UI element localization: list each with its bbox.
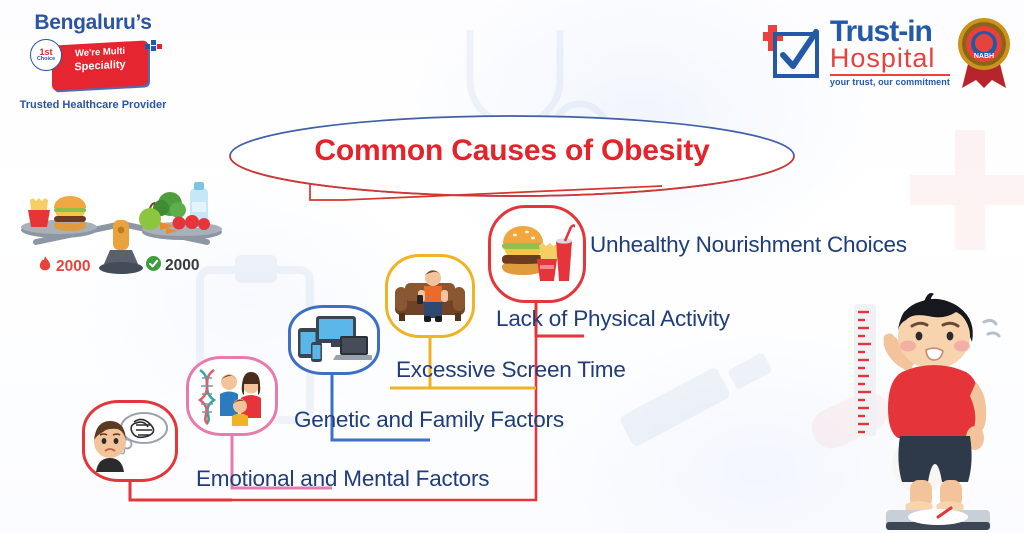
cause-node-unhealthy-nourishment[interactable] xyxy=(488,205,586,303)
overweight-boy-on-weighing-scale xyxy=(838,286,1024,533)
calorie-left: 2000 xyxy=(38,256,90,278)
cause-node-lack-physical-activity[interactable] xyxy=(385,254,475,338)
person-on-couch-icon xyxy=(393,265,467,327)
cause-label-lack-physical-activity: Lack of Physical Activity xyxy=(496,306,730,332)
flame-icon xyxy=(38,256,52,278)
cause-label-unhealthy-nourishment: Unhealthy Nourishment Choices xyxy=(590,232,907,258)
green-check-icon xyxy=(146,256,161,276)
cause-node-genetic-family[interactable] xyxy=(186,356,278,436)
calorie-left-value: 2000 xyxy=(56,258,90,276)
calorie-right: 2000 xyxy=(146,256,199,276)
cause-label-genetic-family: Genetic and Family Factors xyxy=(294,407,564,433)
devices-screens-icon xyxy=(296,314,372,366)
infographic-canvas: Bengaluru’s We're Multi Speciality 1st C… xyxy=(0,0,1024,533)
cause-label-excessive-screen-time: Excessive Screen Time xyxy=(396,357,626,383)
calorie-right-value: 2000 xyxy=(165,257,199,275)
cause-node-emotional-mental[interactable] xyxy=(82,400,178,482)
burger-fries-drink-icon xyxy=(499,223,575,285)
cause-label-emotional-mental: Emotional and Mental Factors xyxy=(196,466,489,492)
cause-node-excessive-screen-time[interactable] xyxy=(288,305,380,375)
dna-family-icon xyxy=(194,366,270,426)
worried-person-thought-icon xyxy=(90,410,170,472)
